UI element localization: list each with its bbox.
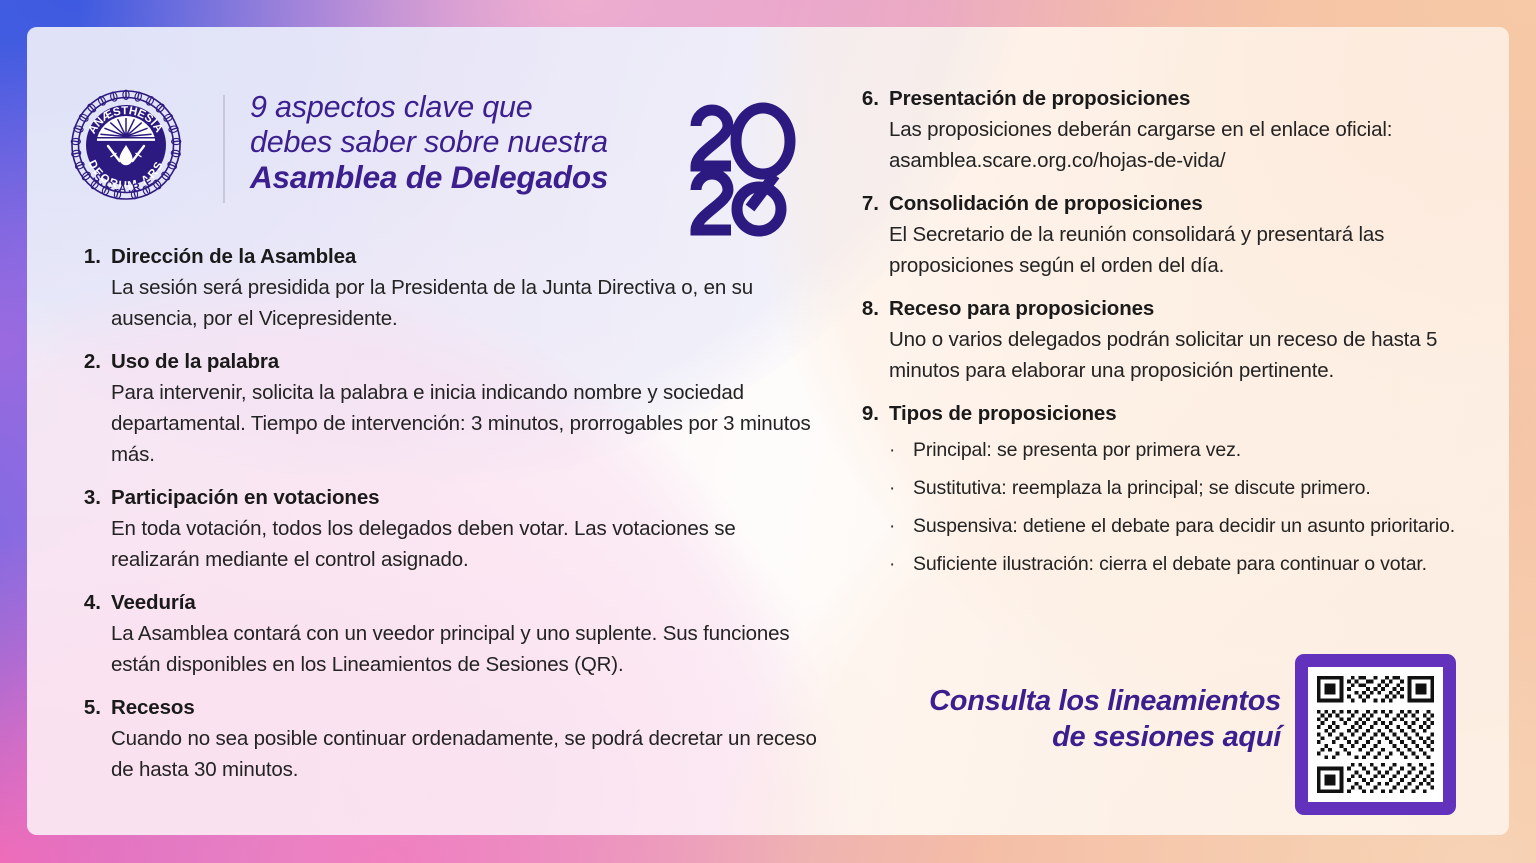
cta-line-2: de sesiones aquí [861, 719, 1281, 755]
item-number: 4. [77, 588, 111, 680]
bullet-icon: · [889, 475, 913, 502]
list-item: · Suficiente ilustración: cierra el deba… [889, 551, 1487, 578]
sub-item-text: Suspensiva: detiene el debate para decid… [913, 513, 1487, 540]
list-item: 7. Consolidación de proposiciones El Sec… [855, 189, 1487, 281]
poster-card: ANÆSTHESIA DEORUM ARS S.C.A.R.E. [27, 27, 1509, 835]
item-text: El Secretario de la reunión consolidará … [889, 219, 1487, 281]
poster-frame: ANÆSTHESIA DEORUM ARS S.C.A.R.E. [0, 0, 1536, 863]
item-number: 7. [855, 189, 889, 281]
item-title: Dirección de la Asamblea [111, 242, 822, 271]
list-item: 6. Presentación de proposiciones Las pro… [855, 84, 1487, 176]
cta-line-1: Consulta los lineamientos [861, 683, 1281, 719]
list-item: 1. Dirección de la Asamblea La sesión se… [77, 242, 822, 334]
list-item: 5. Recesos Cuando no sea posible continu… [77, 693, 822, 785]
item-title: Veeduría [111, 588, 822, 617]
bullet-icon: · [889, 513, 913, 540]
item-number: 9. [855, 399, 889, 589]
item-number: 1. [77, 242, 111, 334]
bullet-icon: · [889, 437, 913, 464]
bullet-icon: · [889, 551, 913, 578]
item-number: 5. [77, 693, 111, 785]
cta-text: Consulta los lineamientos de sesiones aq… [861, 683, 1281, 755]
list-item: 2. Uso de la palabra Para intervenir, so… [77, 347, 822, 470]
qr-code-inner [1308, 667, 1443, 802]
item-title: Recesos [111, 693, 822, 722]
list-item: · Principal: se presenta por primera vez… [889, 437, 1487, 464]
list-item: 9. Tipos de proposiciones · Principal: s… [855, 399, 1487, 589]
list-item: · Sustitutiva: reemplaza la principal; s… [889, 475, 1487, 502]
item-text: Las proposiciones deberán cargarse en el… [889, 114, 1487, 176]
sub-item-text: Suficiente ilustración: cierra el debate… [913, 551, 1487, 578]
proposition-types-list: · Principal: se presenta por primera vez… [889, 437, 1487, 578]
list-item: 8. Receso para proposiciones Uno o vario… [855, 294, 1487, 386]
title-divider [223, 95, 225, 203]
item-number: 8. [855, 294, 889, 386]
title-line-1: 9 aspectos clave que [250, 90, 680, 125]
poster-title: 9 aspectos clave que debes saber sobre n… [250, 90, 680, 195]
item-text: En toda votación, todos los delegados de… [111, 513, 822, 575]
title-line-3: Asamblea de Delegados [250, 160, 680, 195]
title-line-2: debes saber sobre nuestra [250, 125, 680, 160]
qr-code[interactable] [1295, 654, 1456, 815]
left-column: 1. Dirección de la Asamblea La sesión se… [77, 242, 822, 798]
item-title: Consolidación de proposiciones [889, 189, 1487, 218]
item-text: Para intervenir, solicita la palabra e i… [111, 377, 822, 470]
item-title: Uso de la palabra [111, 347, 822, 376]
year-2026-logo [687, 99, 797, 239]
item-number: 2. [77, 347, 111, 470]
item-title: Participación en votaciones [111, 483, 822, 512]
item-text: La Asamblea contará con un veedor princi… [111, 618, 822, 680]
sub-item-text: Principal: se presenta por primera vez. [913, 437, 1487, 464]
item-number: 3. [77, 483, 111, 575]
item-title: Tipos de proposiciones [889, 399, 1487, 428]
item-title: Receso para proposiciones [889, 294, 1487, 323]
sub-item-text: Sustitutiva: reemplaza la principal; se … [913, 475, 1487, 502]
scare-logo: ANÆSTHESIA DEORUM ARS S.C.A.R.E. [62, 85, 190, 213]
item-text: Cuando no sea posible continuar ordenada… [111, 723, 822, 785]
right-column: 6. Presentación de proposiciones Las pro… [855, 84, 1487, 602]
list-item: 3. Participación en votaciones En toda v… [77, 483, 822, 575]
item-text: La sesión será presidida por la Presiden… [111, 272, 822, 334]
list-item: · Suspensiva: detiene el debate para dec… [889, 513, 1487, 540]
item-number: 6. [855, 84, 889, 176]
list-item: 4. Veeduría La Asamblea contará con un v… [77, 588, 822, 680]
item-title: Presentación de proposiciones [889, 84, 1487, 113]
item-text: Uno o varios delegados podrán solicitar … [889, 324, 1487, 386]
